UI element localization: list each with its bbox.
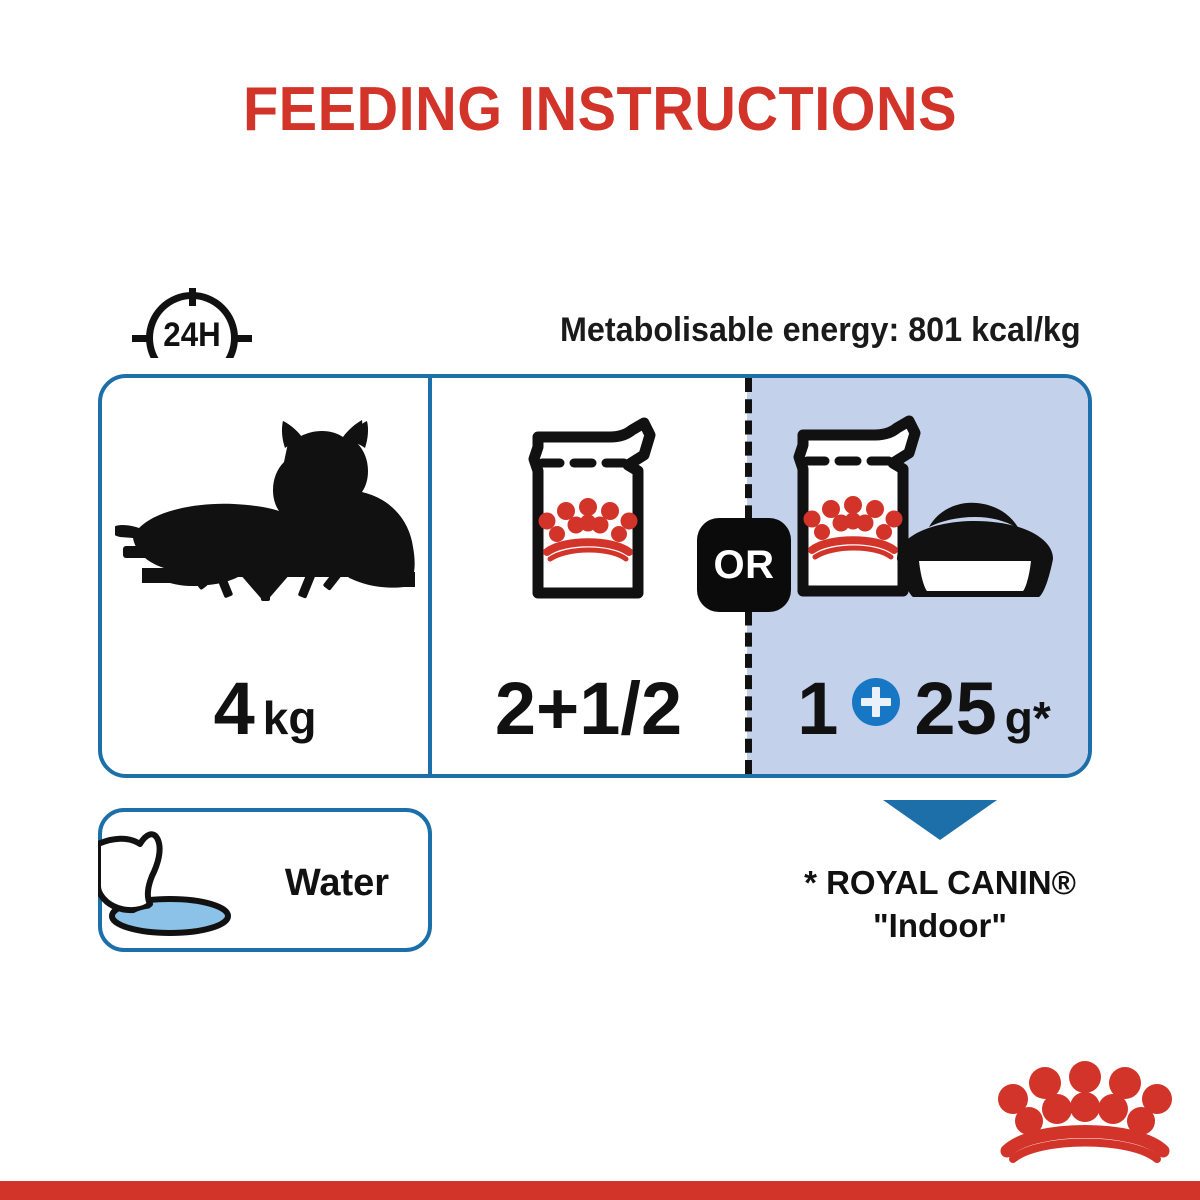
feeding-table: 4 kg — [98, 374, 1092, 778]
royal-canin-crown-logo: ® — [995, 1055, 1175, 1165]
pouch-and-bowl-icon — [752, 406, 1092, 606]
or-badge-label: OR — [714, 543, 775, 588]
clock-tick-top — [189, 288, 196, 306]
food-bowl — [897, 502, 1053, 596]
cat-on-scale-svg — [115, 411, 415, 601]
down-arrow-icon — [883, 800, 997, 840]
or-badge: OR — [697, 518, 791, 612]
cat-weight-value: 4 kg — [102, 672, 428, 746]
duration-badge-label: 24H — [150, 318, 235, 352]
footnote-line-1: * ROYAL CANIN® — [770, 862, 1110, 905]
dry-unit: g* — [1005, 695, 1051, 741]
cat-drinking-water-icon — [98, 824, 268, 944]
water-callout: Water — [98, 808, 432, 952]
clock-tick-right — [232, 335, 252, 342]
table-column-cat-weight: 4 kg — [102, 378, 428, 774]
water-label: Water — [252, 862, 422, 905]
bottom-accent-bar — [0, 1181, 1200, 1200]
weight-unit: kg — [263, 695, 317, 741]
cat-drinking-svg — [98, 824, 268, 944]
pouch-count: 2+1/2 — [495, 667, 682, 750]
table-column-wet-plus-dry: 1 25 g* — [752, 378, 1092, 774]
crown-logo-svg: ® — [995, 1055, 1175, 1165]
page-title: FEEDING INSTRUCTIONS — [42, 74, 1158, 145]
footnote-block: * ROYAL CANIN® "Indoor" — [770, 800, 1110, 948]
wet-plus-dry-value: 1 25 g* — [752, 672, 1092, 746]
wet-only-value: 2+1/2 — [432, 672, 745, 746]
cat-on-scale-icon — [102, 406, 428, 606]
pouch-svg — [514, 411, 664, 601]
pouch-and-bowl-svg — [779, 409, 1069, 604]
plus-icon — [852, 678, 900, 726]
weight-number: 4 — [214, 672, 255, 746]
registered-mark: ® — [1145, 1141, 1155, 1156]
clock-24h-icon: 24H — [132, 288, 252, 358]
metabolisable-energy-text: Metabolisable energy: 801 kcal/kg — [560, 311, 1081, 350]
dry-grams: 25 — [914, 672, 996, 746]
footnote-line-2: "Indoor" — [770, 905, 1110, 948]
pouch-count: 1 — [797, 672, 838, 746]
feeding-instructions-panel: FEEDING INSTRUCTIONS 24H Metabolisable e… — [0, 0, 1200, 1200]
